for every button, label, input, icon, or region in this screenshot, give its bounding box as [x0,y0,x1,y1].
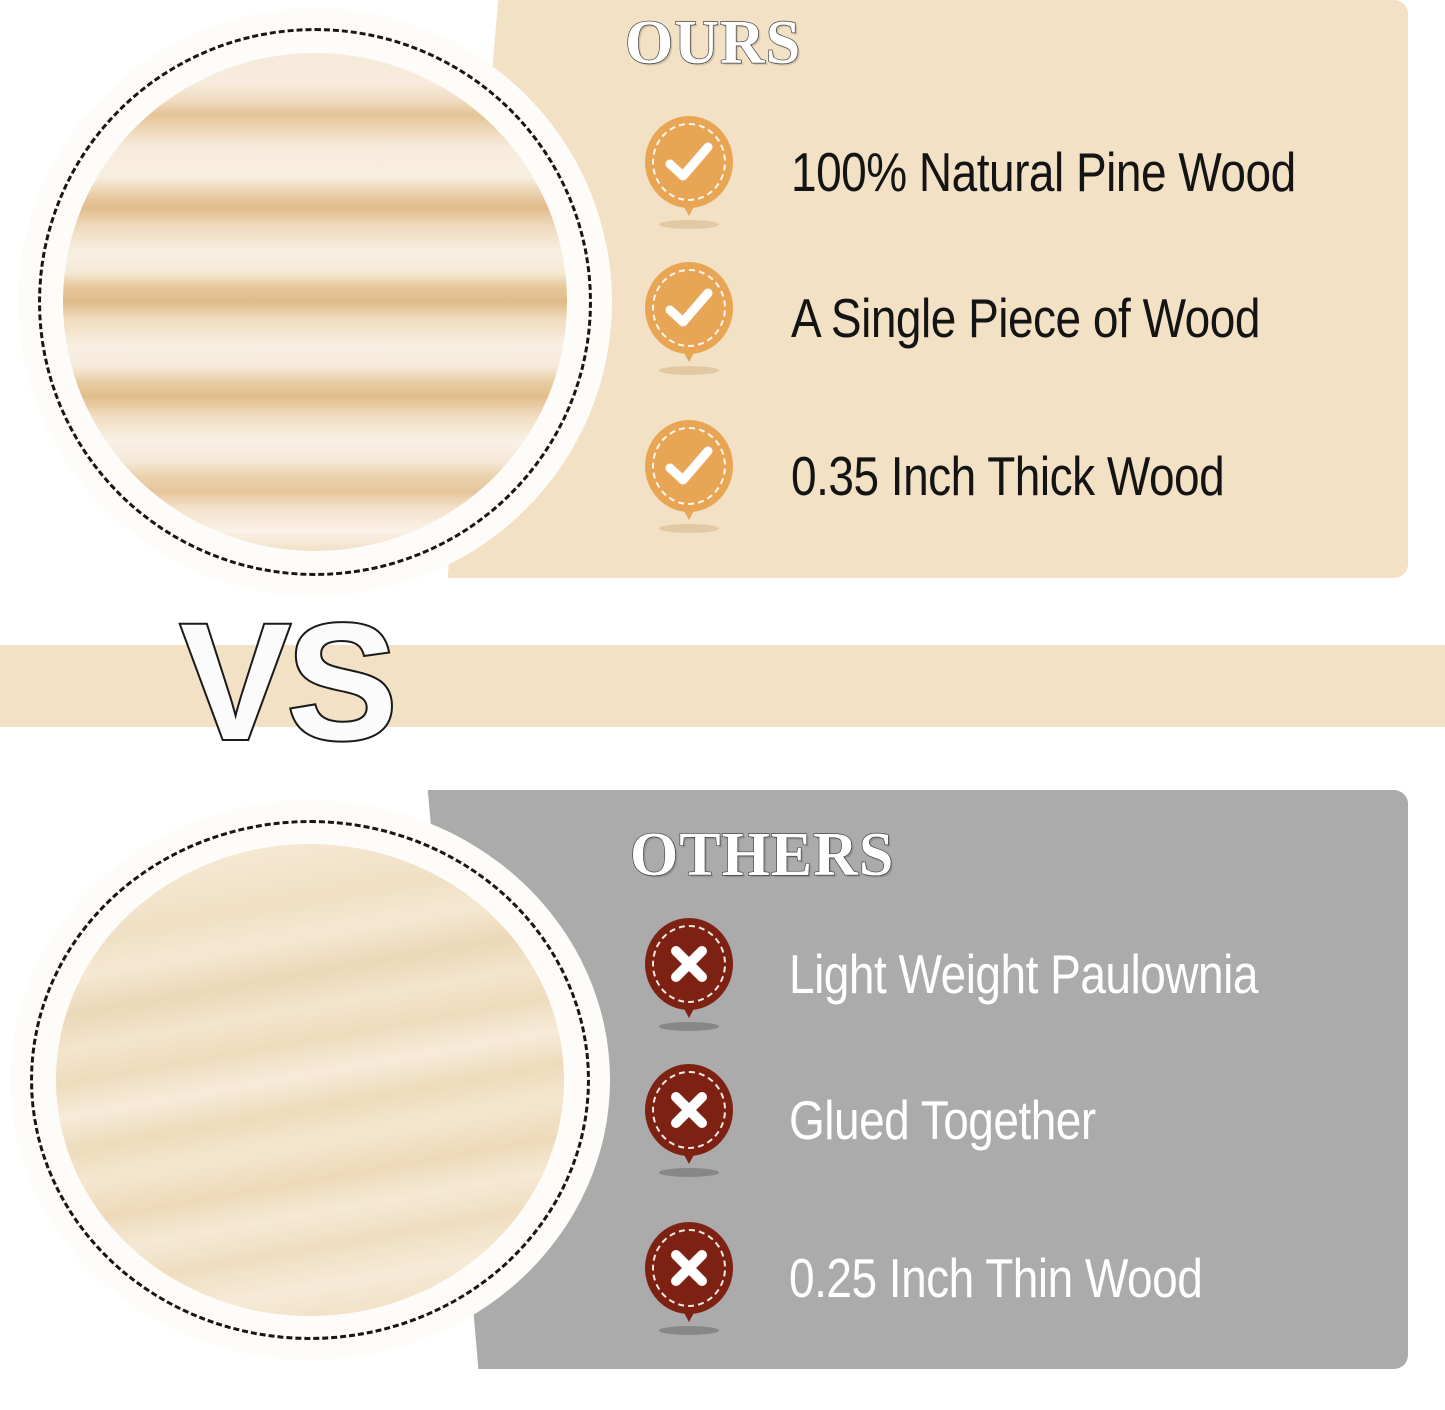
ours-feature-row-2: A Single Piece of Wood [645,262,1260,374]
ours-feature-row-1: 100% Natural Pine Wood [645,116,1296,228]
check-icon-shadow [659,524,719,533]
ours-feature-row-3: 0.35 Inch Thick Wood [645,420,1224,532]
ours-product-disc [18,8,612,596]
others-feature-row-1: Light Weight Paulownia [645,918,1258,1030]
vs-label: VS [180,600,393,766]
cross-icon [645,918,733,1030]
check-icon-shadow [659,220,719,229]
check-icon-glyph [645,420,733,512]
others-feature-label-3: 0.25 Inch Thin Wood [789,1246,1202,1310]
others-feature-row-3: 0.25 Inch Thin Wood [645,1222,1202,1334]
check-icon-shadow [659,366,719,375]
ours-title: OURS [625,8,801,79]
others-feature-label-1: Light Weight Paulownia [789,942,1258,1006]
check-icon [645,262,733,374]
ours-wood-texture [63,53,567,551]
ours-feature-label-3: 0.35 Inch Thick Wood [791,444,1224,508]
cross-icon-shadow [659,1022,719,1031]
ours-feature-label-2: A Single Piece of Wood [791,286,1260,350]
others-wood-texture [56,844,564,1316]
check-icon-glyph [645,116,733,208]
others-product-disc [10,800,610,1360]
cross-icon [645,1064,733,1176]
cross-icon-glyph [645,918,733,1010]
check-icon-glyph [645,262,733,354]
cross-icon-shadow [659,1326,719,1335]
cross-icon [645,1222,733,1334]
others-feature-row-2: Glued Together [645,1064,1096,1176]
ours-feature-label-1: 100% Natural Pine Wood [791,140,1296,204]
cross-icon-glyph [645,1222,733,1314]
others-title: OTHERS [630,820,894,891]
check-icon [645,420,733,532]
cross-icon-shadow [659,1168,719,1177]
others-feature-label-2: Glued Together [789,1088,1096,1152]
cross-icon-glyph [645,1064,733,1156]
check-icon [645,116,733,228]
